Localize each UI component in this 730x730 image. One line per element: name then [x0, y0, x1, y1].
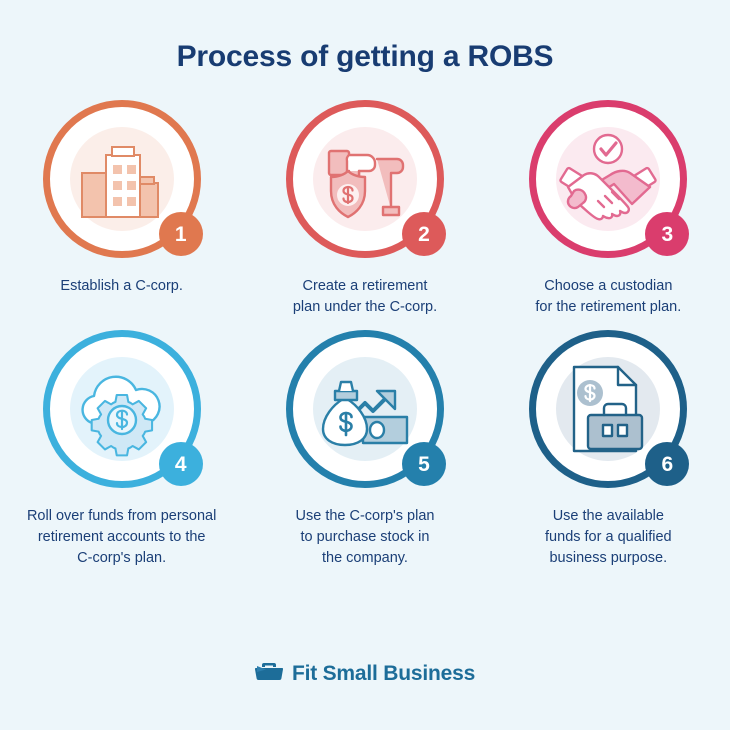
infographic-page: Process of getting a ROBS: [0, 0, 730, 730]
cloud-gear-dollar-icon: [70, 357, 174, 461]
step-circle-6: 6: [529, 330, 687, 488]
step-badge-1: 1: [159, 212, 203, 256]
step-badge-6: 6: [645, 442, 689, 486]
step-caption-4: Roll over funds from personal retirement…: [27, 506, 216, 569]
step-circle-3: 3: [529, 100, 687, 258]
step-circle-1: 1: [43, 100, 201, 258]
step-badge-3: 3: [645, 212, 689, 256]
steps-grid: 1 Establish a C-corp.: [0, 100, 730, 569]
step-circle-2: 2: [286, 100, 444, 258]
step-caption-3: Choose a custodian for the retirement pl…: [535, 276, 681, 318]
step-caption-1: Establish a C-corp.: [60, 276, 183, 297]
step-badge-5: 5: [402, 442, 446, 486]
step-caption-5: Use the C-corp's plan to purchase stock …: [296, 506, 435, 569]
footer-logo[interactable]: Fit Small Business: [0, 659, 730, 688]
step-item-2: 2 Create a retirement plan under the C-c…: [243, 100, 486, 318]
step-circle-4: 4: [43, 330, 201, 488]
step-caption-2: Create a retirement plan under the C-cor…: [293, 276, 437, 318]
page-title: Process of getting a ROBS: [0, 0, 730, 74]
step-item-4: 4 Roll over funds from personal retireme…: [0, 330, 243, 569]
step-item-6: 6 Use the available funds for a qualifie…: [487, 330, 730, 569]
brand-name: Fit Small Business: [292, 662, 475, 686]
step-badge-2: 2: [402, 212, 446, 256]
money-bag-growth-icon: [313, 357, 417, 461]
step-badge-4: 4: [159, 442, 203, 486]
hand-faucet-shield-dollar-icon: [313, 127, 417, 231]
office-building-icon: [70, 127, 174, 231]
handshake-check-icon: [556, 127, 660, 231]
briefcase-icon: [255, 659, 283, 688]
step-item-5: 5 Use the C-corp's plan to purchase stoc…: [243, 330, 486, 569]
step-item-1: 1 Establish a C-corp.: [0, 100, 243, 318]
step-caption-6: Use the available funds for a qualified …: [545, 506, 672, 569]
step-item-3: 3 Choose a custodian for the retirement …: [487, 100, 730, 318]
document-briefcase-icon: [556, 357, 660, 461]
step-circle-5: 5: [286, 330, 444, 488]
